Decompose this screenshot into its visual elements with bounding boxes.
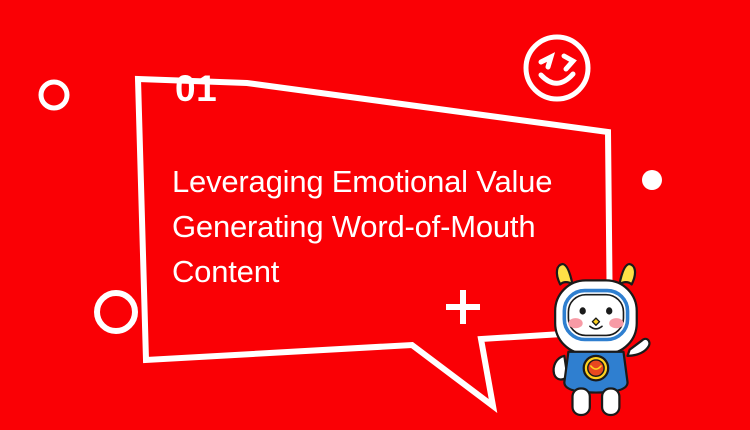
- mascot-leg-left: [572, 388, 589, 415]
- mascot-leg-right: [602, 388, 619, 415]
- mascot-horn-left-icon: [557, 264, 573, 284]
- mascot-badge-inner: [588, 360, 604, 376]
- mascot-horn-right-icon: [619, 264, 635, 284]
- mascot-eye-right: [606, 307, 612, 314]
- mascot-illustration: [0, 0, 750, 430]
- mascot-cheek-right: [609, 318, 623, 328]
- mascot-cheek-left: [568, 318, 582, 328]
- mascot-eye-left: [580, 307, 586, 314]
- slide-canvas: 01 Leveraging Emotional Value Generating…: [0, 0, 750, 430]
